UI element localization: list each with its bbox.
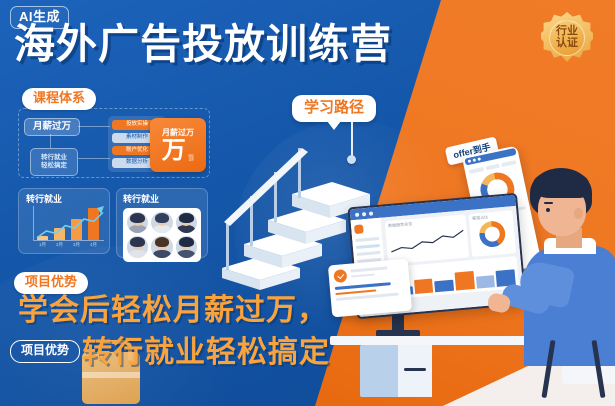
phone-dot xyxy=(468,159,472,163)
label-course-system: 课程体系 xyxy=(22,88,96,110)
salary-card-unit: 월 xyxy=(188,155,194,162)
monitor-dot xyxy=(369,211,373,215)
avatar xyxy=(151,212,172,233)
avatar xyxy=(176,236,197,257)
headline-line-1: 学会后轻松月薪过万， xyxy=(18,296,328,326)
monitor-dot xyxy=(355,212,359,216)
chip-career-change-line2: 轻松搞定 xyxy=(41,163,67,170)
check-circle-icon xyxy=(333,269,347,283)
connector-horizontal-top xyxy=(78,126,110,127)
dashboard-row-top: 数据趋势总览 渠道占比 xyxy=(385,210,516,264)
graduates-card: 转行就业 xyxy=(116,188,208,258)
headline-line-2: 转行就业轻松搞定 xyxy=(82,338,330,368)
desk-drawer xyxy=(398,345,432,397)
chart-tick-label: 4月 xyxy=(88,243,99,248)
notification-sub-bar xyxy=(351,273,375,278)
salary-card-big-char: 万 xyxy=(162,138,186,162)
certification-seal: 行业 认证 xyxy=(541,12,593,64)
dashboard-mini-bar xyxy=(435,280,455,293)
dashboard-mini-bar xyxy=(476,275,496,289)
chart-tick-label: 3月 xyxy=(71,243,82,248)
dashboard-mini-bar xyxy=(414,278,434,294)
person-eye xyxy=(546,208,550,212)
person-eyebrow xyxy=(544,202,553,204)
chart-plot-area: 1月2月3月4月 xyxy=(26,206,104,246)
dashboard-line-card: 数据趋势总览 xyxy=(385,214,470,264)
chart-trend-line xyxy=(33,206,104,242)
seal-inner: 行业 认证 xyxy=(549,20,585,56)
notification-header xyxy=(333,264,404,283)
chart-tick-label: 1月 xyxy=(37,243,48,248)
avatar xyxy=(127,236,148,257)
connector-horizontal-bottom xyxy=(78,158,110,159)
chip-career-change: 转行就业 轻松搞定 xyxy=(30,148,78,176)
seal-line-2: 认证 xyxy=(556,38,578,50)
chart-x-tick-labels: 1月2月3月4月 xyxy=(37,243,103,248)
monitor-dot xyxy=(362,212,366,216)
salary-card-value-row: 万 월 xyxy=(162,138,194,162)
connector-vertical xyxy=(50,134,51,148)
person-ear xyxy=(574,208,583,219)
label-learning-path: 学习路径 xyxy=(292,95,376,122)
dashboard-logo-icon xyxy=(354,224,364,234)
avatar xyxy=(151,236,172,257)
label-project-advantage-2: 项目优势 xyxy=(10,340,80,363)
desk-drawer-handle xyxy=(404,368,426,371)
notification-card xyxy=(328,259,412,318)
chart-card-title: 转行就业 xyxy=(26,195,102,204)
notification-title-bar xyxy=(350,266,387,272)
dashboard-line-chart xyxy=(389,224,466,256)
dashboard-mini-bar xyxy=(455,271,475,291)
suitcase-band xyxy=(82,372,140,378)
chip-career-change-line1: 转行就业 xyxy=(41,155,67,162)
label-project-advantage: 项目优势 xyxy=(14,272,88,294)
phone-dot xyxy=(477,157,481,161)
chart-tick-label: 2月 xyxy=(54,243,65,248)
avatar xyxy=(176,212,197,233)
notification-progress-blue xyxy=(335,282,391,289)
person-hair-front xyxy=(533,170,589,198)
salary-highlight-card: 月薪过万 万 월 xyxy=(150,118,206,172)
sidebar-item xyxy=(356,244,380,249)
sidebar-item xyxy=(355,237,379,242)
poster-root: AI生成 海外广告投放训练营 行业 认证 课程体系 月薪过万 转行就业 轻松搞定… xyxy=(0,0,615,406)
phone-dot xyxy=(473,158,477,162)
avatar-grid xyxy=(123,208,201,262)
avatar-card-title: 转行就业 xyxy=(123,195,201,204)
chip-monthly-salary: 月薪过万 xyxy=(24,118,80,136)
avatar xyxy=(127,212,148,233)
career-growth-chart-card: 转行就业 1月2月3月4月 xyxy=(18,188,110,254)
person-illustration xyxy=(500,168,615,368)
page-title: 海外广告投放训练营 xyxy=(14,24,392,65)
sidebar-item xyxy=(356,251,380,256)
